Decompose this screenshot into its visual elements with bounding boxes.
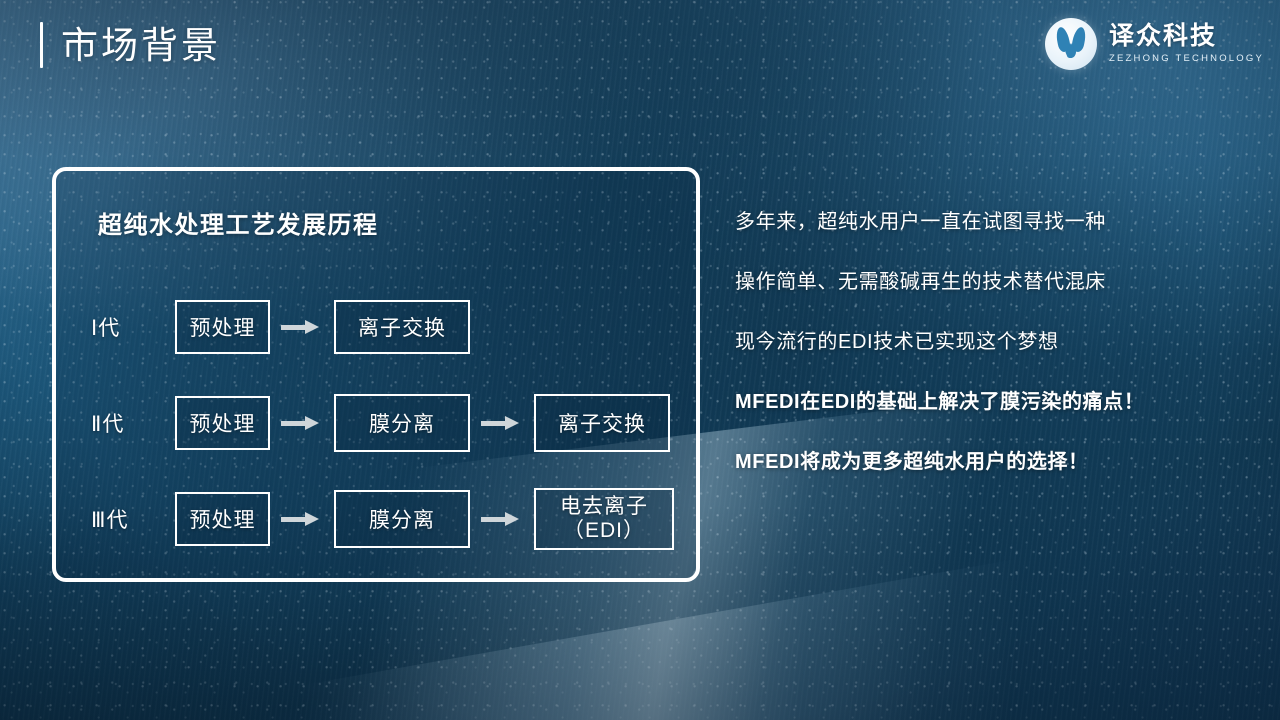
arrow-right-icon <box>279 416 325 430</box>
page-title: 市场背景 <box>40 22 221 68</box>
slide-canvas: 市场背景 译众科技 ZEZHONG TECHNOLOGY 超纯水处理工艺发展历程… <box>0 0 1280 720</box>
logo-wordmark: 译众科技 ZEZHONG TECHNOLOGY <box>1109 24 1264 64</box>
logo-name-en: ZEZHONG TECHNOLOGY <box>1109 54 1264 64</box>
flow-diagram: Ⅰ代 预处理 离子交换 Ⅱ代 预处理 膜分离 离子交换 Ⅲ代 预处理 膜分离 <box>56 279 696 567</box>
process-node-membrane-separation: 膜分离 <box>334 394 470 452</box>
generation-label: Ⅰ代 <box>91 312 175 342</box>
arrow-right-icon <box>279 512 325 526</box>
panel-title: 超纯水处理工艺发展历程 <box>98 205 379 240</box>
process-history-panel: 超纯水处理工艺发展历程 Ⅰ代 预处理 离子交换 Ⅱ代 预处理 膜分离 离子交换 … <box>52 167 700 582</box>
arrow-right-icon <box>479 416 525 430</box>
process-node-ion-exchange: 离子交换 <box>334 300 470 354</box>
edi-line-1: 电去离子 <box>560 495 648 519</box>
flow-row-gen3: Ⅲ代 预处理 膜分离 电去离子 （EDI） <box>56 471 696 567</box>
narrative-line-1: 多年来，超纯水用户一直在试图寻找一种 <box>735 212 1235 232</box>
edi-line-2: （EDI） <box>563 519 645 543</box>
flow-row-gen1: Ⅰ代 预处理 离子交换 <box>56 279 696 375</box>
narrative-line-5: MFEDI将成为更多超纯水用户的选择！ <box>735 452 1235 472</box>
narrative-line-2: 操作简单、无需酸碱再生的技术替代混床 <box>735 272 1235 292</box>
water-droplet-logo-icon <box>1045 18 1097 70</box>
process-node-ion-exchange: 离子交换 <box>534 394 670 452</box>
arrow-right-icon <box>479 512 525 526</box>
narrative-text-block: 多年来，超纯水用户一直在试图寻找一种 操作简单、无需酸碱再生的技术替代混床 现今… <box>735 212 1235 472</box>
title-text: 市场背景 <box>61 27 221 64</box>
narrative-line-4: MFEDI在EDI的基础上解决了膜污染的痛点！ <box>735 392 1235 412</box>
flow-row-gen2: Ⅱ代 预处理 膜分离 离子交换 <box>56 375 696 471</box>
process-node-pretreatment: 预处理 <box>175 300 270 354</box>
process-node-pretreatment: 预处理 <box>175 492 270 546</box>
narrative-line-3: 现今流行的EDI技术已实现这个梦想 <box>735 332 1235 352</box>
arrow-right-icon <box>279 320 325 334</box>
process-node-membrane-separation: 膜分离 <box>334 490 470 548</box>
generation-label: Ⅲ代 <box>91 504 175 534</box>
company-logo: 译众科技 ZEZHONG TECHNOLOGY <box>1045 18 1264 70</box>
process-node-pretreatment: 预处理 <box>175 396 270 450</box>
title-accent-bar <box>40 22 43 68</box>
logo-name-cn: 译众科技 <box>1109 24 1264 49</box>
generation-label: Ⅱ代 <box>91 408 175 438</box>
process-node-electrodeionization: 电去离子 （EDI） <box>534 488 674 550</box>
